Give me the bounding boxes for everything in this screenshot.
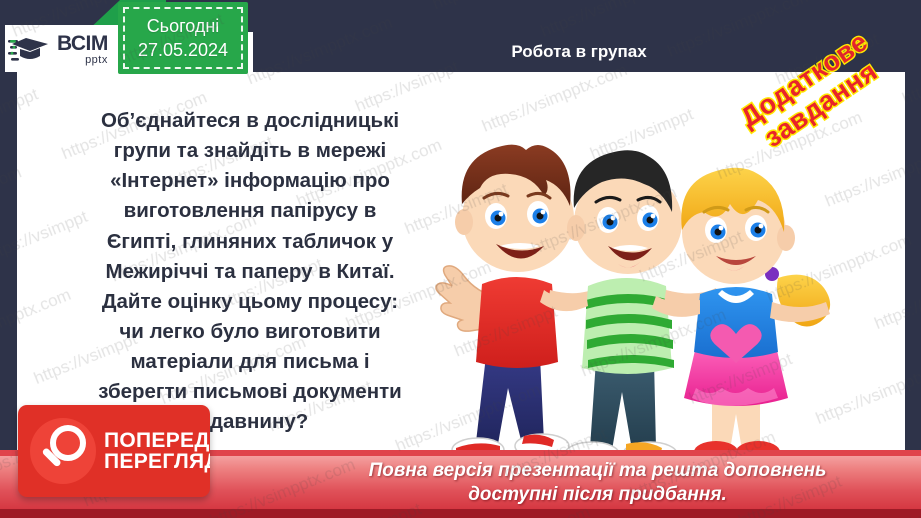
banner-line1: Повна версія презентації та решта доповн… [290, 459, 905, 483]
body-line: матеріали для письма і [55, 347, 445, 377]
page-title: Робота в групах [511, 42, 646, 62]
magnifier-icon [30, 418, 96, 484]
date-badge-value: 27.05.2024 [138, 38, 228, 62]
children-illustration [420, 88, 920, 473]
logo-name: ВСІМ [57, 33, 108, 54]
graduation-cap-icon [8, 32, 54, 66]
body-line: «Інтернет» інформацію про [55, 166, 445, 196]
task-body-text: Об’єднайтеся в дослідницькі групи та зна… [55, 106, 445, 437]
banner-text: Повна версія презентації та решта доповн… [290, 459, 905, 508]
preview-badge[interactable]: ПОПЕРЕДНІЙ ПЕРЕГЛЯД [18, 405, 210, 497]
logo-subtitle: pptx [57, 55, 108, 66]
body-line: зберегти письмові документи [55, 377, 445, 407]
body-line: Об’єднайтеся в дослідницькі [55, 106, 445, 136]
preview-badge-text: ПОПЕРЕДНІЙ ПЕРЕГЛЯД [104, 430, 210, 472]
brand-logo[interactable]: ВСІМ pptx [8, 28, 120, 70]
preview-badge-line1: ПОПЕРЕДНІЙ [104, 430, 210, 451]
banner-bottom-line [0, 509, 921, 518]
body-line: групи та знайдіть в мережі [55, 136, 445, 166]
date-badge-label: Сьогодні [147, 14, 220, 38]
body-line: чи легко було виготовити [55, 317, 445, 347]
presentation-slide: Об’єднайтеся в дослідницькі групи та зна… [0, 0, 921, 518]
banner-line2: доступні після придбання. [290, 483, 905, 507]
body-line: Дайте оцінку цьому процесу: [55, 287, 445, 317]
body-line: виготовлення папірусу в [55, 196, 445, 226]
preview-badge-circle [30, 418, 96, 484]
preview-badge-line2: ПЕРЕГЛЯД [104, 451, 210, 472]
body-line: Єгипті, глиняних табличок у [55, 227, 445, 257]
frame-right-bar [905, 0, 921, 518]
logo-wordmark: ВСІМ pptx [57, 33, 108, 66]
header-title-bar: Робота в групах [253, 32, 905, 72]
date-badge: Сьогодні 27.05.2024 [118, 2, 248, 74]
body-line: Межиріччі та паперу в Китаї. [55, 257, 445, 287]
